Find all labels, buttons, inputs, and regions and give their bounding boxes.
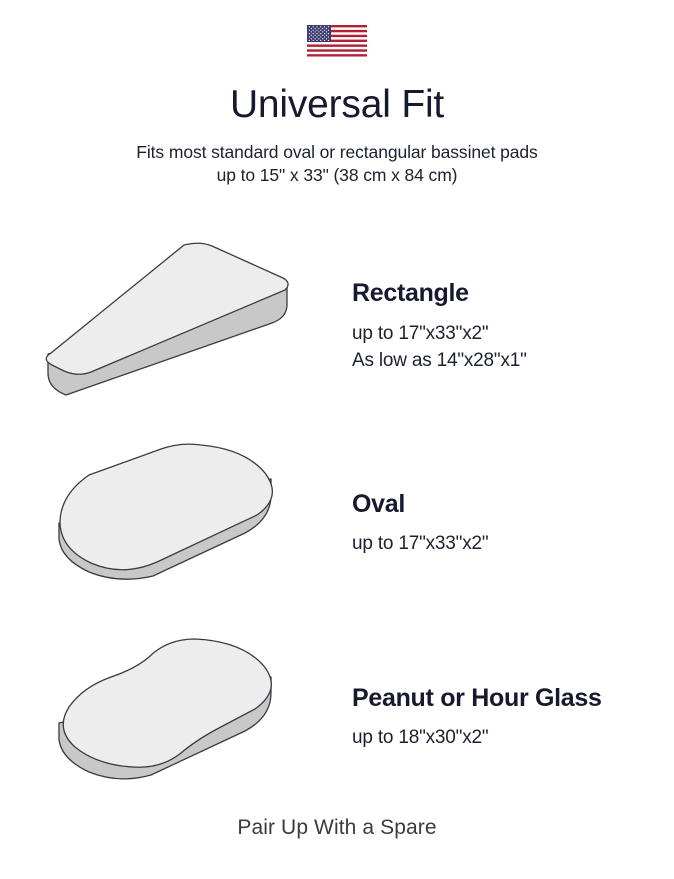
page-title: Universal Fit [0,83,674,127]
shape-row-peanut: Peanut or Hour Glass up to 18"x30"x2" [0,628,674,808]
page-subtitle: Fits most standard oval or rectangular b… [0,141,674,188]
dimension-line-1: up to 17"x33"x2" [352,531,674,558]
peanut-illustration [0,631,348,806]
infographic-page: Universal Fit Fits most standard oval or… [0,0,674,879]
oval-mattress-icon [49,437,299,612]
subtitle-line-1: Fits most standard oval or rectangular b… [0,141,674,164]
rectangle-mattress-icon [34,235,314,420]
dimension-line-2: As low as 14"x28"x1" [352,348,674,375]
shape-row-rectangle: Rectangle up to 17"x33"x2" As low as 14"… [0,232,674,422]
peanut-copy: Peanut or Hour Glass up to 18"x30"x2" [348,684,674,753]
shape-name-peanut: Peanut or Hour Glass [352,684,674,713]
shape-name-rectangle: Rectangle [352,279,674,308]
usa-flag-icon [304,20,370,60]
dimension-line-1: up to 17"x33"x2" [352,321,674,348]
dimension-line-1: up to 18"x30"x2" [352,725,674,752]
shape-name-oval: Oval [352,490,674,519]
shape-dimensions-oval: up to 17"x33"x2" [352,531,674,558]
peanut-mattress-icon [49,631,299,806]
rectangle-copy: Rectangle up to 17"x33"x2" As low as 14"… [348,279,674,375]
rectangle-illustration [0,235,348,420]
subtitle-line-2: up to 15" x 33" (38 cm x 84 cm) [0,164,674,187]
shape-dimensions-peanut: up to 18"x30"x2" [352,725,674,752]
header: Universal Fit Fits most standard oval or… [0,83,674,187]
shape-dimensions-rectangle: up to 17"x33"x2" As low as 14"x28"x1" [352,321,674,375]
oval-copy: Oval up to 17"x33"x2" [348,490,674,559]
flag-container [0,20,674,60]
oval-illustration [0,437,348,612]
shape-row-oval: Oval up to 17"x33"x2" [0,434,674,614]
footer: Pair Up With a Spare [0,816,674,840]
footer-tagline: Pair Up With a Spare [0,816,674,840]
